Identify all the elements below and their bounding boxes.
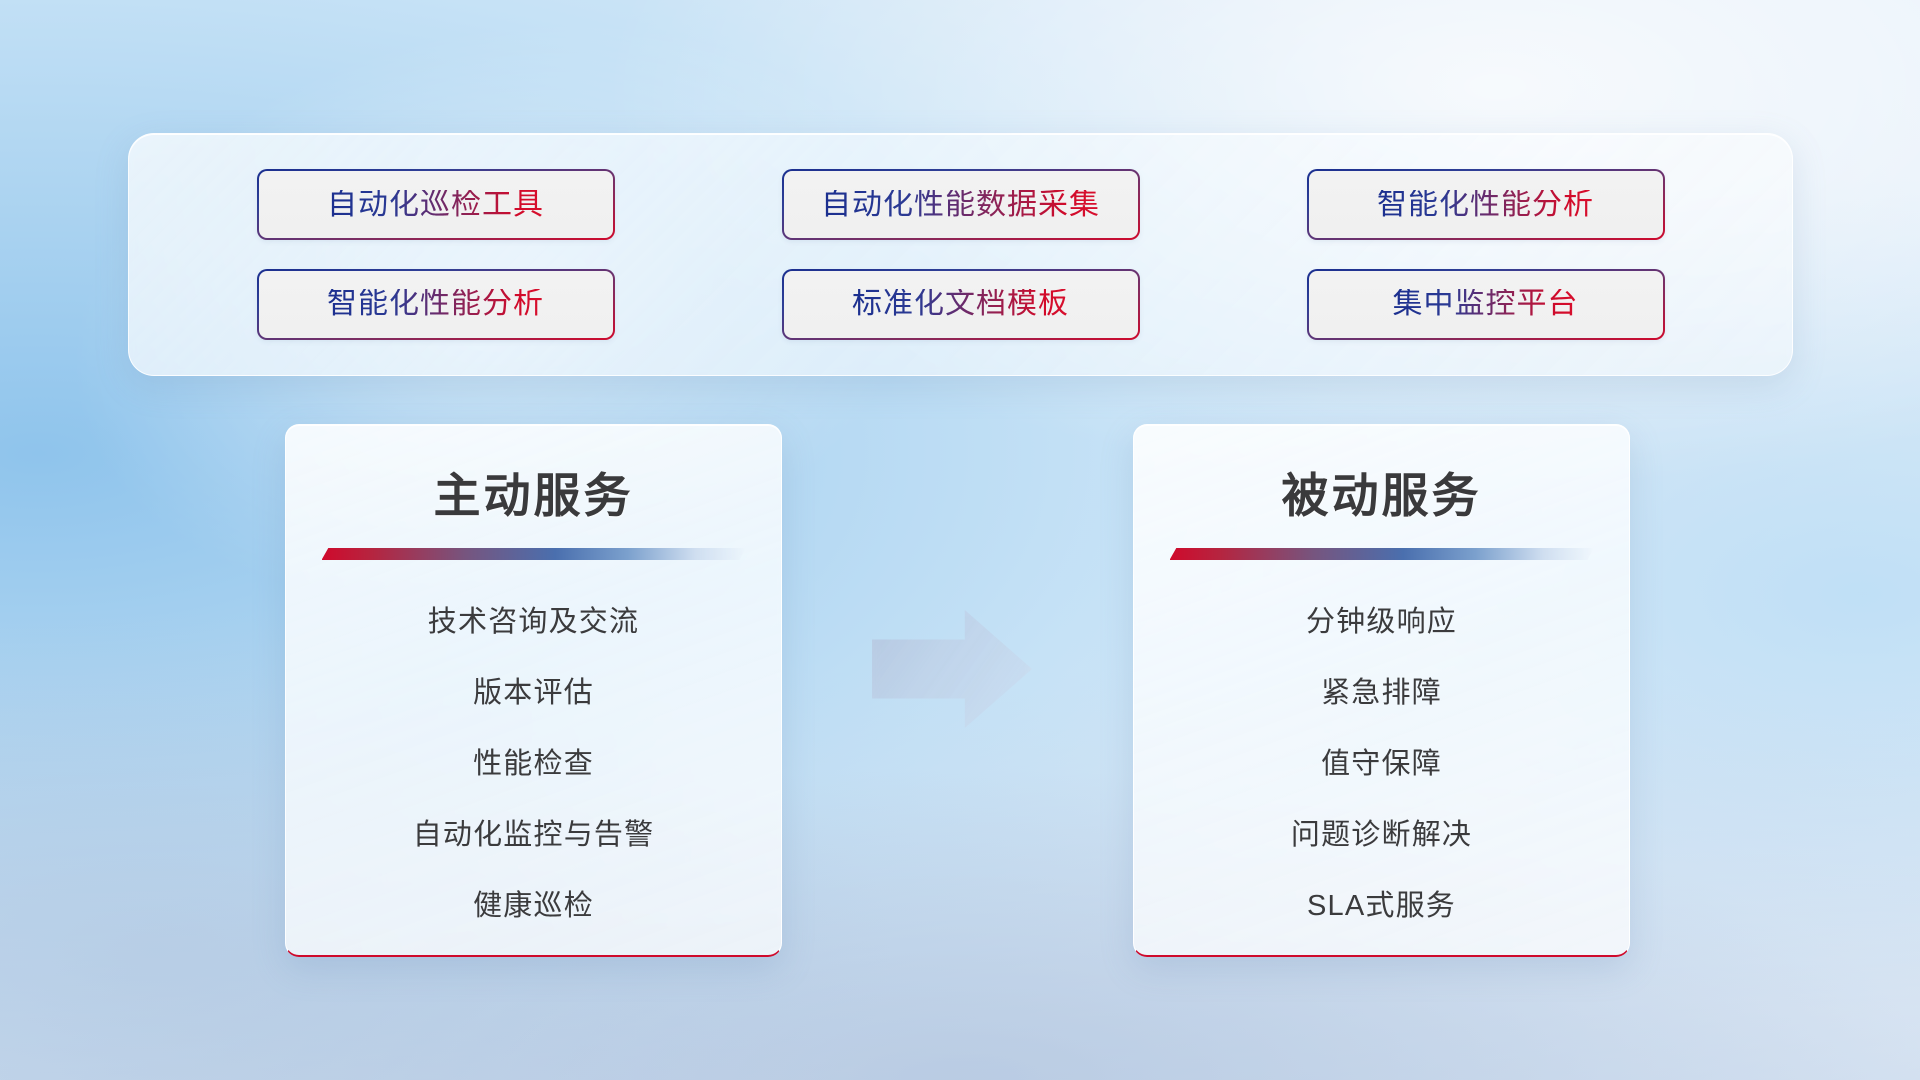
capability-tag[interactable]: 自动化巡检工具: [257, 169, 615, 240]
list-item: 健康巡检: [286, 878, 781, 935]
active-service-list: 技术咨询及交流 版本评估 性能检查 自动化监控与告警 健康巡检: [286, 594, 781, 935]
capability-tag-label: 标准化文档模板: [852, 289, 1069, 319]
list-item: 问题诊断解决: [1134, 807, 1629, 864]
capability-tag-label: 智能化性能分析: [1377, 190, 1594, 220]
title-divider: [322, 548, 746, 560]
passive-service-card: 被动服务 分钟级响应 紧急排障 值守保障 问题诊断解决 SLA式服务: [1133, 424, 1630, 957]
arrow-right-icon: [872, 610, 1032, 728]
active-service-title: 主动服务: [286, 457, 781, 526]
active-service-card: 主动服务 技术咨询及交流 版本评估 性能检查 自动化监控与告警 健康巡检: [285, 424, 782, 957]
passive-service-list: 分钟级响应 紧急排障 值守保障 问题诊断解决 SLA式服务: [1134, 594, 1629, 935]
capability-tag[interactable]: 标准化文档模板: [782, 269, 1140, 340]
capability-tag[interactable]: 智能化性能分析: [257, 269, 615, 340]
list-item: 性能检查: [286, 736, 781, 793]
list-item: 分钟级响应: [1134, 594, 1629, 651]
list-item: 紧急排障: [1134, 665, 1629, 722]
list-item: 版本评估: [286, 665, 781, 722]
passive-service-title: 被动服务: [1134, 457, 1629, 526]
list-item: 自动化监控与告警: [286, 807, 781, 864]
capability-tag[interactable]: 集中监控平台: [1307, 269, 1665, 340]
capability-tags-panel: 自动化巡检工具 自动化性能数据采集 智能化性能分析 智能化性能分析 标准化文档模…: [128, 133, 1793, 376]
title-divider: [1170, 548, 1594, 560]
list-item: 技术咨询及交流: [286, 594, 781, 651]
capability-tag[interactable]: 智能化性能分析: [1307, 169, 1665, 240]
capability-tag-label: 自动化性能数据采集: [821, 190, 1100, 220]
capability-tag[interactable]: 自动化性能数据采集: [782, 169, 1140, 240]
capability-tag-label: 集中监控平台: [1393, 289, 1579, 319]
list-item: 值守保障: [1134, 736, 1629, 793]
list-item: SLA式服务: [1134, 878, 1629, 935]
capability-tag-label: 智能化性能分析: [327, 289, 544, 319]
slide-stage: 自动化巡检工具 自动化性能数据采集 智能化性能分析 智能化性能分析 标准化文档模…: [0, 0, 1920, 1080]
capability-tag-label: 自动化巡检工具: [327, 190, 544, 220]
capability-tags-grid: 自动化巡检工具 自动化性能数据采集 智能化性能分析 智能化性能分析 标准化文档模…: [129, 134, 1792, 375]
